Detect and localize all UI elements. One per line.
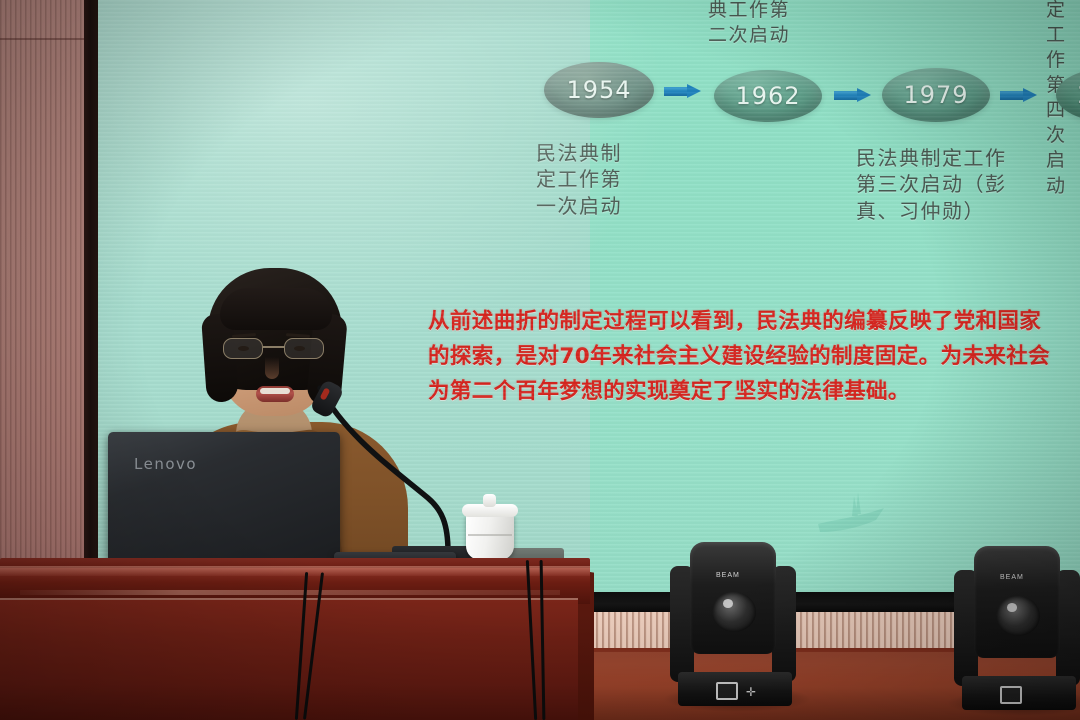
teacup-knob [483,494,496,507]
lectern-highlight [0,566,590,576]
teeth [260,388,290,394]
timeline-label-below-1954: 民法典制 定工作第 一次启动 [536,140,622,219]
slide-red-paragraph: 从前述曲折的制定过程可以看到，民法典的编纂反映了党和国家 的探索，是对70年来社… [428,304,1080,409]
laptop-brand-label: Lenovo [134,455,197,473]
timeline-label-below-1979: 民法典制定工作 第三次启动（彭 真、习仲勋） [856,145,1007,224]
timeline-node-1979: 1979 [882,68,990,122]
stage-light-right: BEAM [952,540,1080,708]
timeline-node-1954: 1954 [544,62,654,118]
stage-light-lens [712,592,756,632]
laptop-lid [108,432,340,572]
speaker-hair-fringe [220,288,332,330]
stage-light-brand: BEAM [716,572,740,579]
lectern-front-panel [0,600,578,720]
timeline-node-1962: 1962 [714,70,822,122]
nose [265,357,279,379]
stage-light-left: BEAM ✛ [668,536,798,704]
timeline-label-above-1962: 典工作第 二次启动 [708,0,790,48]
stage-light-display-icon-2 [1000,686,1022,704]
lecture-hall-photo: 典工作第 二次启动 定工作第 四次启动 民法典制 定工作第 一次启动 民法典制定… [0,0,1080,720]
teacup-body [466,512,514,560]
eye-right [294,346,305,351]
eye-left [238,346,249,351]
teacup-ring [468,534,512,536]
stage-light-display-icon [716,682,738,700]
wall-seam [0,38,92,40]
stage-light-brand-2: BEAM [1000,574,1024,581]
watermark-boat-icon [814,490,892,540]
stage-light-lens-2 [996,596,1040,636]
lectern-highlight-2 [20,590,560,595]
stage-light-dpad-icon: ✛ [746,686,760,698]
